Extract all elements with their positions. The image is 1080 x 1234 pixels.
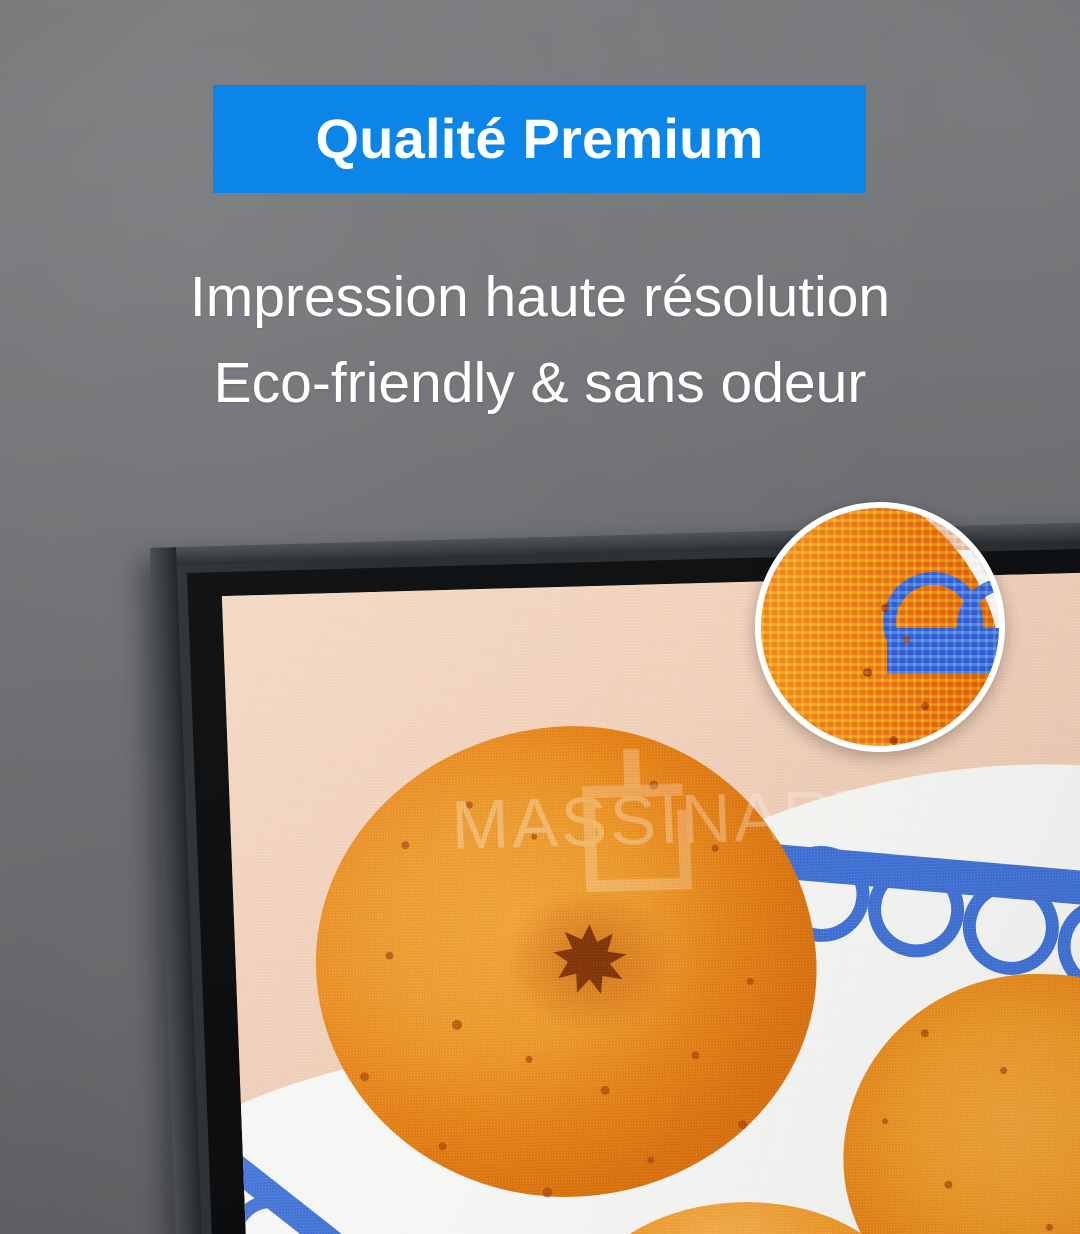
premium-quality-banner: Qualité Premium (213, 85, 866, 193)
fruit-speck (882, 1118, 888, 1124)
magnifier-speck (881, 604, 889, 612)
magnifier-speck (889, 736, 898, 745)
magnifier-speck (903, 636, 910, 643)
fruit-speck (531, 834, 537, 840)
subtitle-line-2: Eco-friendly & sans odeur (0, 341, 1080, 427)
magnifier-speck (921, 702, 929, 710)
banner-headline: Qualité Premium (315, 111, 763, 167)
magnifier-content (761, 508, 999, 746)
subtitle-line-1: Impression haute résolution (0, 255, 1080, 341)
persimmon-calyx-star (550, 921, 631, 997)
texture-magnifier-circle (755, 502, 1005, 752)
promo-banner-image: Qualité Premium Impression haute résolut… (0, 0, 1080, 1234)
feature-subtitle: Impression haute résolution Eco-friendly… (0, 255, 1080, 426)
magnifier-speck (863, 668, 872, 677)
